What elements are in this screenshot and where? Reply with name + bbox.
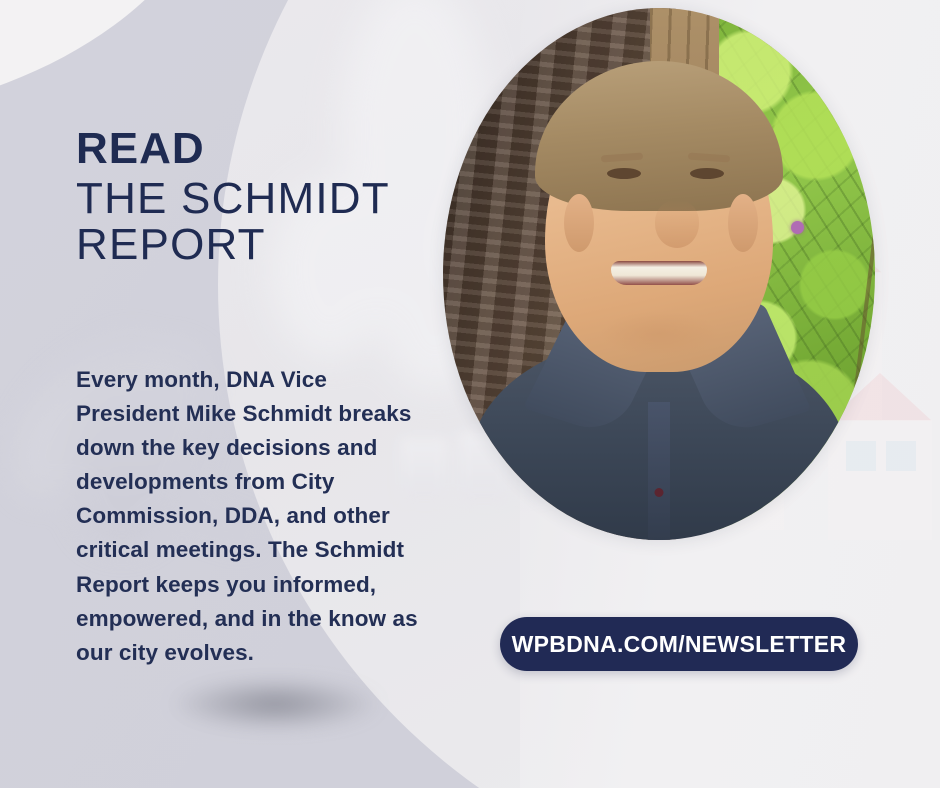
headline: READ THE SCHMIDT REPORT <box>76 128 390 267</box>
newsletter-cta-button[interactable]: WPBDNA.COM/NEWSLETTER <box>500 617 858 671</box>
background-shadow-smudge <box>170 678 380 730</box>
headline-line-1: READ <box>76 128 390 170</box>
promo-graphic-canvas: READ THE SCHMIDT REPORT Every month, DNA… <box>0 0 940 788</box>
headline-line-3: REPORT <box>76 224 390 266</box>
portrait-photo <box>443 8 875 540</box>
body-paragraph: Every month, DNA Vice President Mike Sch… <box>76 363 436 671</box>
headline-line-2: THE SCHMIDT <box>76 178 390 220</box>
